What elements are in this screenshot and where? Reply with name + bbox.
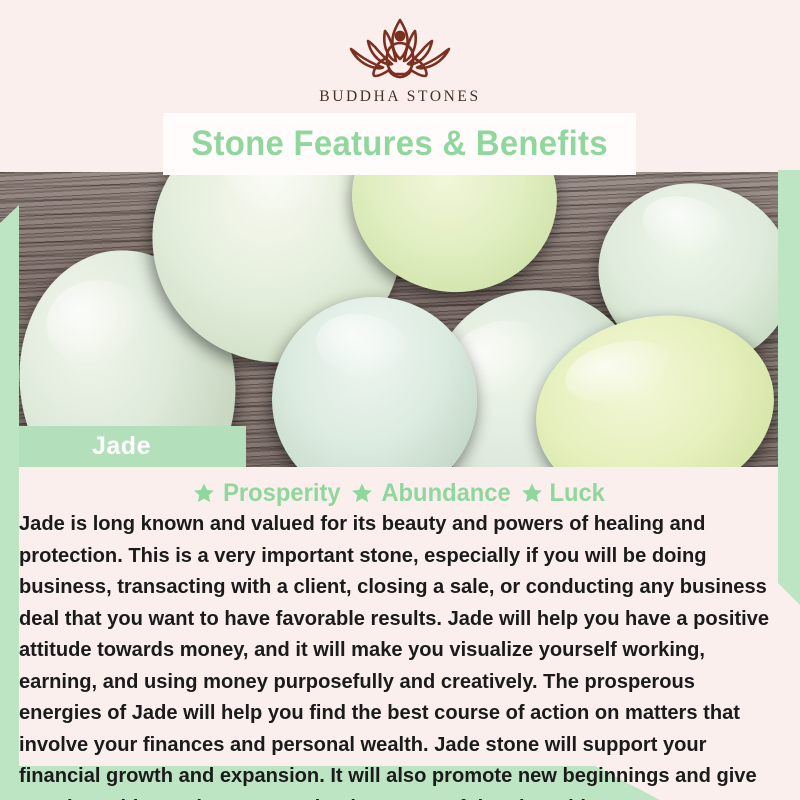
brand-logo: BUDDHA STONES	[0, 14, 800, 114]
star-icon	[351, 482, 373, 504]
stone-name-label: Jade	[19, 426, 246, 467]
title-banner: Stone Features & Benefits	[163, 113, 636, 175]
brand-name: BUDDHA STONES	[319, 88, 480, 106]
benefit-item: Prosperity	[193, 479, 344, 508]
page-title: Stone Features & Benefits	[191, 124, 608, 164]
stone-photo	[0, 172, 800, 467]
decor-right-green-bar	[778, 170, 800, 605]
stone-info-card: BUDDHA STONES Stone Features & Benefits …	[0, 0, 800, 800]
stone-name-text: Jade	[92, 432, 151, 461]
star-icon	[521, 482, 543, 504]
benefit-label: Prosperity	[224, 479, 341, 508]
benefit-item: Abundance	[351, 479, 514, 508]
benefit-item: Luck	[521, 479, 606, 508]
lotus-meditation-icon	[325, 14, 475, 86]
stone-description: Jade is long known and valued for its be…	[19, 509, 775, 800]
benefit-label: Luck	[550, 479, 605, 508]
benefit-label: Abundance	[381, 479, 510, 508]
benefits-row: Prosperity Abundance Luck	[0, 478, 800, 508]
star-icon	[193, 482, 215, 504]
